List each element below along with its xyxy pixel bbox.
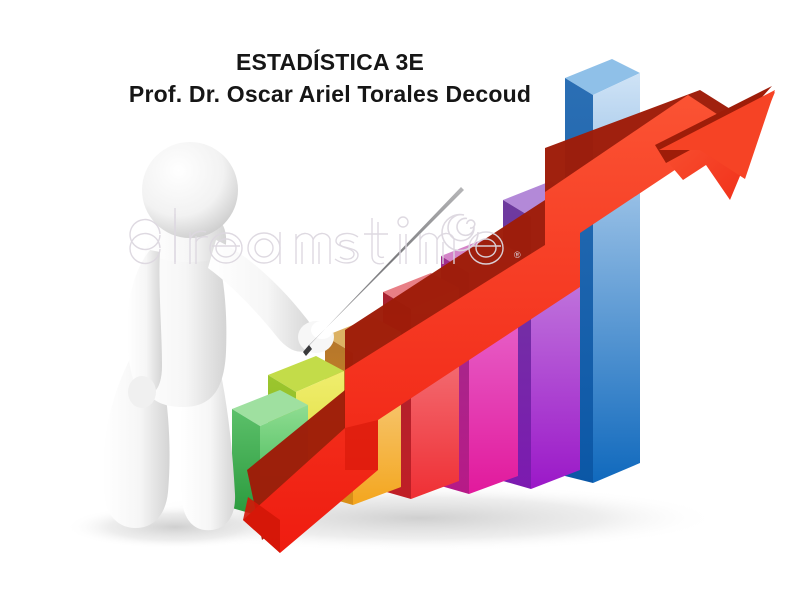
figure-head [142,142,238,238]
bar-chart-illustration [0,0,800,598]
illustration-canvas: ® ESTADÍSTICA 3E Prof. Dr. Oscar Ariel T… [0,0,800,598]
red-growth-arrow [243,86,775,553]
